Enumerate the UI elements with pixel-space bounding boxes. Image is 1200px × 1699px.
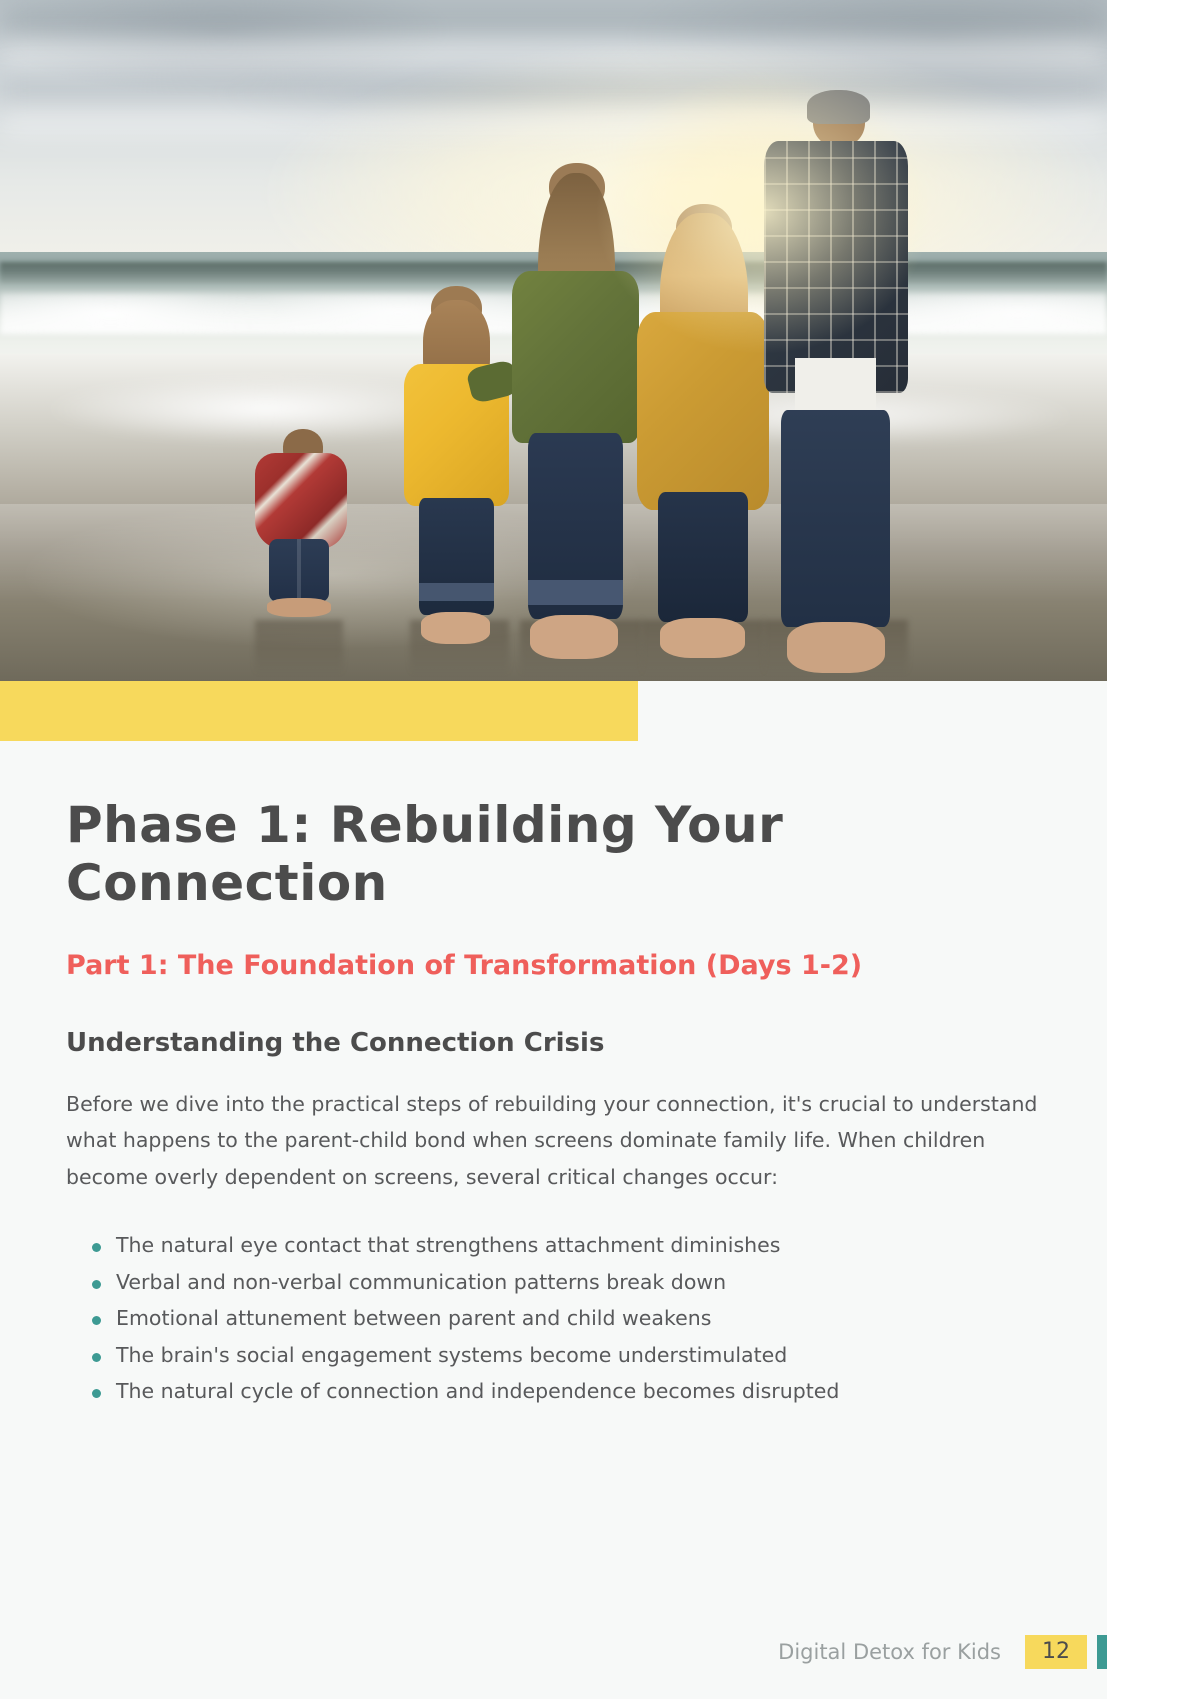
hero-photo xyxy=(0,0,1107,681)
list-item: Verbal and non-verbal communication patt… xyxy=(88,1264,1041,1300)
cloud-band xyxy=(0,75,1107,106)
figure-father-plaid-shirt xyxy=(764,95,908,667)
page-content: Phase 1: Rebuilding Your Connection Part… xyxy=(0,741,1107,1409)
section-heading: Understanding the Connection Crisis xyxy=(66,1027,1041,1060)
list-item: The natural eye contact that strengthens… xyxy=(88,1227,1041,1263)
page-footer: Digital Detox for Kids 12 xyxy=(778,1635,1107,1669)
footer-book-title: Digital Detox for Kids xyxy=(778,1635,1025,1669)
cloud-band xyxy=(0,9,1107,37)
yellow-accent-banner xyxy=(0,681,638,741)
body-paragraph: Before we dive into the practical steps … xyxy=(66,1086,1041,1195)
page-number-badge: 12 xyxy=(1025,1635,1087,1669)
figure-teen-mustard-cardigan xyxy=(637,204,770,653)
cloud-band xyxy=(0,44,1107,66)
bullet-list: The natural eye contact that strengthens… xyxy=(66,1227,1041,1409)
figure-girl-yellow-coat xyxy=(404,286,509,640)
list-item: The natural cycle of connection and inde… xyxy=(88,1373,1041,1409)
footer-accent-bar xyxy=(1097,1635,1107,1669)
document-page: Phase 1: Rebuilding Your Connection Part… xyxy=(0,0,1107,1699)
list-item: The brain's social engagement systems be… xyxy=(88,1337,1041,1373)
cloud-band xyxy=(0,113,1107,132)
page-title: Phase 1: Rebuilding Your Connection xyxy=(66,796,826,912)
figure-crouching-child xyxy=(249,429,349,613)
figure-reflection xyxy=(255,620,344,681)
list-item: Emotional attunement between parent and … xyxy=(88,1300,1041,1336)
page-subtitle: Part 1: The Foundation of Transformation… xyxy=(66,948,1016,983)
figure-mother-olive-sweater xyxy=(509,163,642,653)
